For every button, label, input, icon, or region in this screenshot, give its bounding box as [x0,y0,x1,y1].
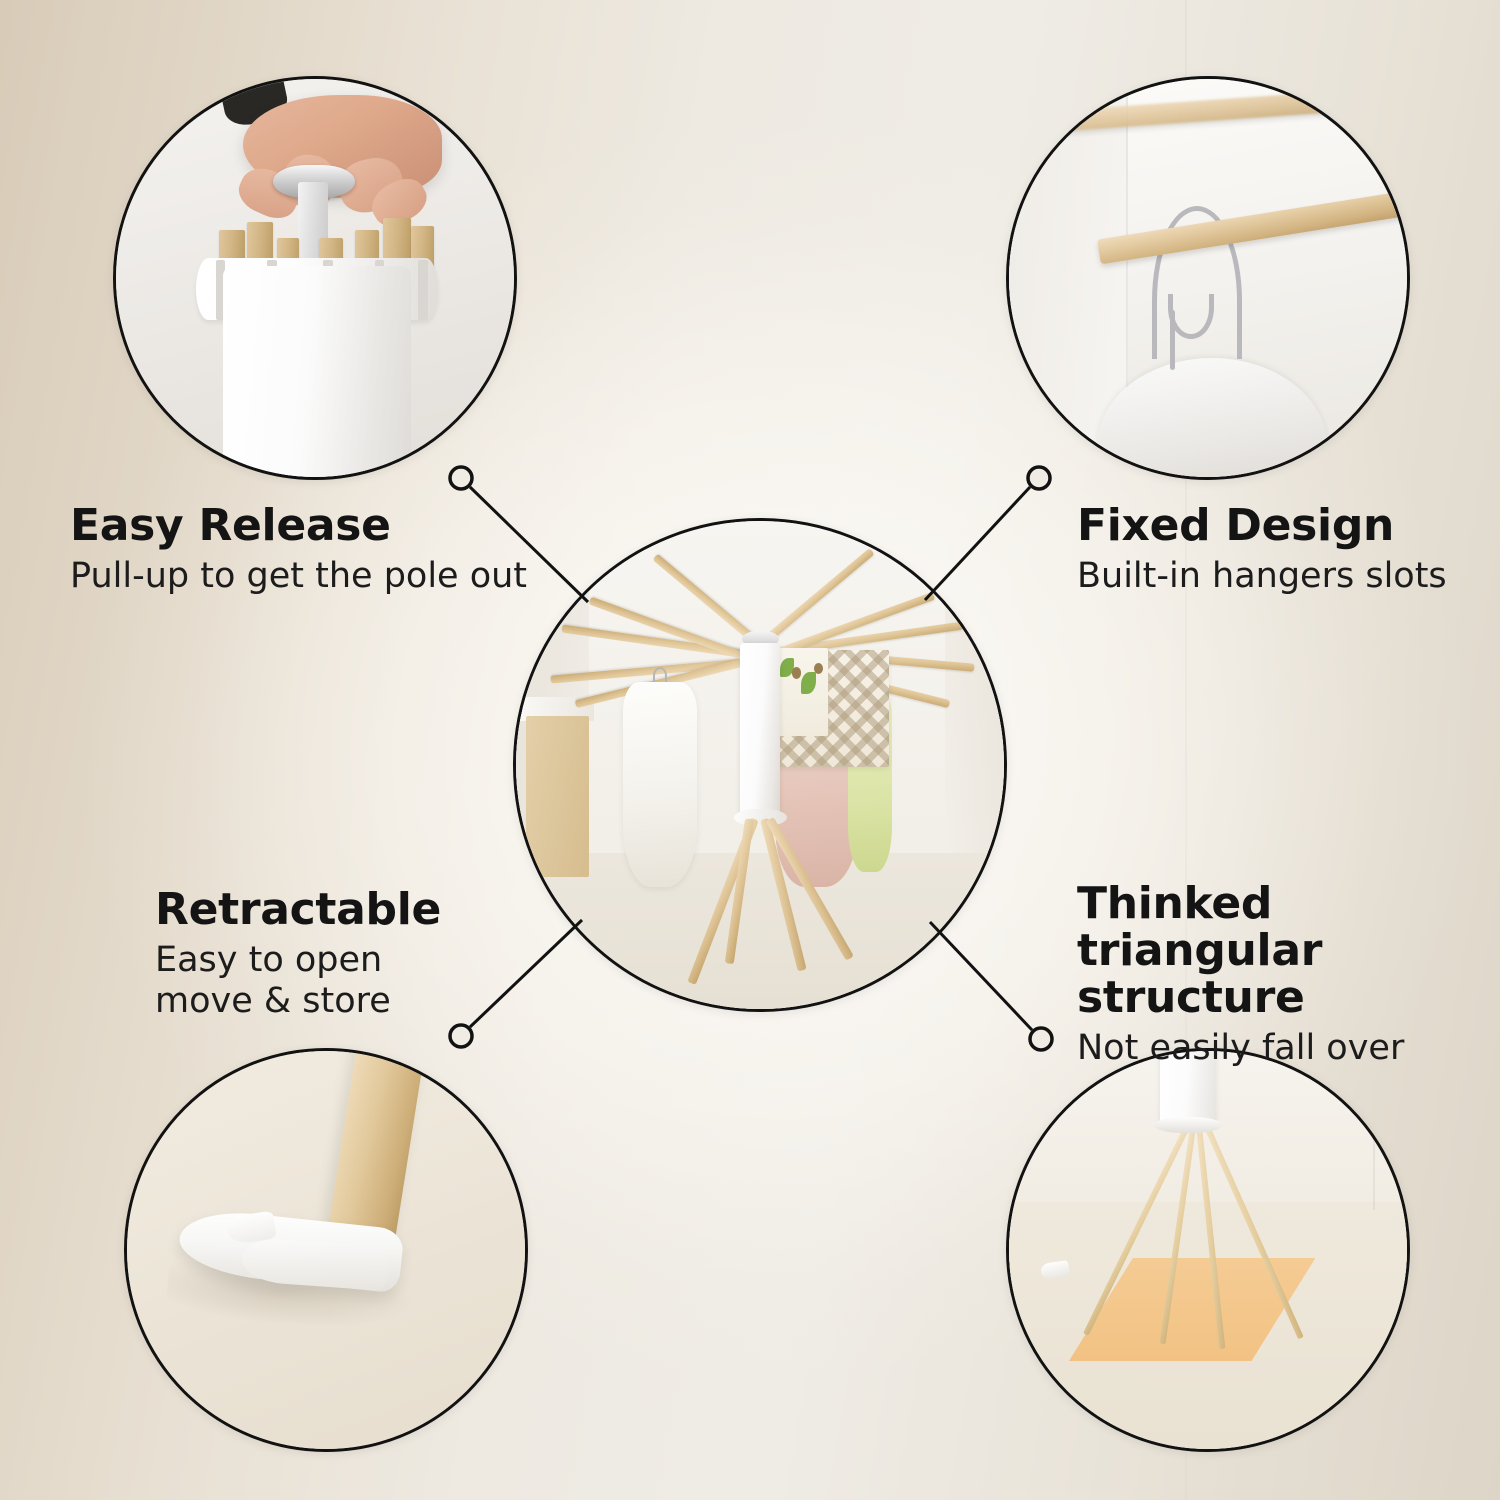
feature-image-easy-release [113,76,517,480]
wooden-pole [1097,189,1410,265]
feature-subtitle-easy-release: Pull-up to get the pole out [70,556,540,597]
connector-ring-retractable [450,1025,472,1047]
hub-body [223,266,410,480]
right-wall [945,521,1004,863]
feature-title-triangular-structure: Thinked triangular structure [1077,880,1489,1021]
floor [516,853,1004,1009]
feature-subtitle-retractable: Easy to open move & store [155,940,555,1022]
feature-text-triangular-structure: Thinked triangular structure Not easily … [1077,880,1489,1069]
connector-ring-triangular-structure [1030,1028,1052,1050]
feature-text-fixed-design: Fixed Design Built-in hangers slots [1077,502,1477,597]
feature-title-retractable: Retractable [155,886,555,933]
rack-arm [757,547,874,647]
feature-subtitle-triangular-structure: Not easily fall over [1077,1028,1489,1069]
collar-slot [418,260,428,320]
wood-cabinet [526,716,589,877]
feature-text-retractable: Retractable Easy to open move & store [155,886,555,1022]
center-product-image [513,518,1007,1012]
wall-corner [1373,1051,1375,1210]
tube-collar [1154,1117,1222,1133]
feature-image-triangular-structure [1006,1048,1410,1452]
feature-image-fixed-design [1006,76,1410,480]
feature-title-easy-release: Easy Release [70,502,540,549]
infographic-canvas: Easy Release Pull-up to get the pole out… [0,0,1500,1500]
white-hanger-body [1097,358,1328,480]
center-post [740,643,780,819]
feature-title-fixed-design: Fixed Design [1077,502,1477,549]
feature-text-easy-release: Easy Release Pull-up to get the pole out [70,502,540,597]
feature-subtitle-fixed-design: Built-in hangers slots [1077,556,1477,597]
white-garment [623,682,696,887]
feature-image-retractable [124,1048,528,1452]
hanger-hook-tail [1170,310,1175,370]
